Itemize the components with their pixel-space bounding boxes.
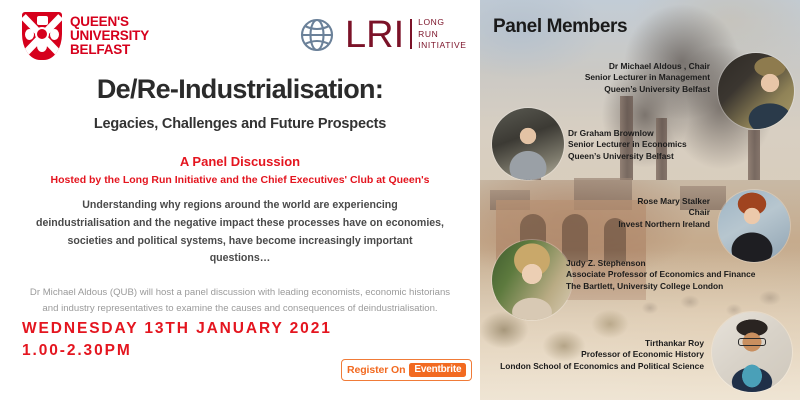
member-name: Dr Graham Brownlow (568, 128, 758, 139)
panel-member-caption: Dr Michael Aldous , Chair Senior Lecture… (530, 61, 710, 95)
event-time: 1.00-2.30PM (22, 340, 332, 362)
event-datetime: WEDNESDAY 13TH JANUARY 2021 1.00-2.30PM (22, 318, 332, 363)
member-affiliation: Queen’s University Belfast (568, 151, 758, 162)
qub-line-1: QUEEN'S (70, 15, 149, 29)
event-format: A Panel Discussion (0, 154, 480, 169)
lri-sub-3: INITIATIVE (418, 40, 466, 52)
member-name: Rose Mary Stalker (538, 196, 710, 207)
member-name: Tirthankar Roy (490, 338, 704, 349)
title-block: De/Re-Industrialisation: Legacies, Chall… (0, 74, 480, 186)
panel-members-heading: Panel Members (493, 16, 627, 38)
member-affiliation: London School of Economics and Political… (490, 361, 704, 372)
panel-member-caption: Judy Z. Stephenson Associate Professor o… (566, 258, 790, 292)
panel-member-caption: Rose Mary Stalker Chair Invest Northern … (538, 196, 710, 230)
member-name: Dr Michael Aldous , Chair (530, 61, 710, 72)
member-name: Judy Z. Stephenson (566, 258, 790, 269)
lri-wordmark: LRI (345, 17, 404, 53)
avatar (712, 312, 792, 392)
panel-members-section: Panel Members Dr Michael Aldous , Chair … (480, 0, 800, 400)
queens-university-logo: QUEEN'S UNIVERSITY BELFAST (22, 12, 149, 60)
event-lede: Understanding why regions around the wor… (0, 197, 480, 268)
register-label: Register On (347, 364, 405, 376)
event-date: WEDNESDAY 13TH JANUARY 2021 (22, 318, 332, 340)
avatar (718, 190, 790, 262)
panel-member-caption: Tirthankar Roy Professor of Economic His… (490, 338, 704, 372)
member-affiliation: Queen’s University Belfast (530, 84, 710, 95)
event-poster: QUEEN'S UNIVERSITY BELFAST (0, 0, 800, 400)
register-on-eventbrite-button[interactable]: Register On Eventbrite (341, 359, 472, 381)
lri-logo: LRI LONG RUN INITIATIVE (296, 14, 467, 56)
lri-divider (410, 19, 412, 49)
queens-wordmark: QUEEN'S UNIVERSITY BELFAST (70, 15, 149, 57)
member-role: Senior Lecturer in Management (530, 72, 710, 83)
event-title: De/Re-Industrialisation: (0, 74, 480, 105)
queens-crest-icon (22, 12, 62, 60)
avatar (492, 108, 564, 180)
event-detail: Dr Michael Aldous (QUB) will host a pane… (0, 285, 480, 316)
event-subtitle: Legacies, Challenges and Future Prospect… (0, 116, 480, 132)
globe-icon (296, 14, 338, 56)
avatar (718, 53, 794, 129)
avatar (492, 240, 572, 320)
left-content-panel: QUEEN'S UNIVERSITY BELFAST (0, 0, 480, 400)
member-role: Professor of Economic History (490, 349, 704, 360)
member-affiliation: Invest Northern Ireland (538, 219, 710, 230)
member-role: Senior Lecturer in Economics (568, 139, 758, 150)
qub-line-2: UNIVERSITY (70, 29, 149, 43)
member-affiliation: The Bartlett, University College London (566, 281, 790, 292)
eventbrite-brand-pill: Eventbrite (409, 363, 466, 377)
body-copy: Understanding why regions around the wor… (0, 197, 480, 316)
qub-line-3: BELFAST (70, 43, 149, 57)
lri-sub-2: RUN (418, 29, 466, 41)
logo-bar: QUEEN'S UNIVERSITY BELFAST (0, 10, 480, 66)
member-role: Chair (538, 207, 710, 218)
panel-member-caption: Dr Graham Brownlow Senior Lecturer in Ec… (568, 128, 758, 162)
lri-sub-1: LONG (418, 17, 466, 29)
event-host-line: Hosted by the Long Run Initiative and th… (0, 174, 480, 186)
member-role: Associate Professor of Economics and Fin… (566, 269, 790, 280)
